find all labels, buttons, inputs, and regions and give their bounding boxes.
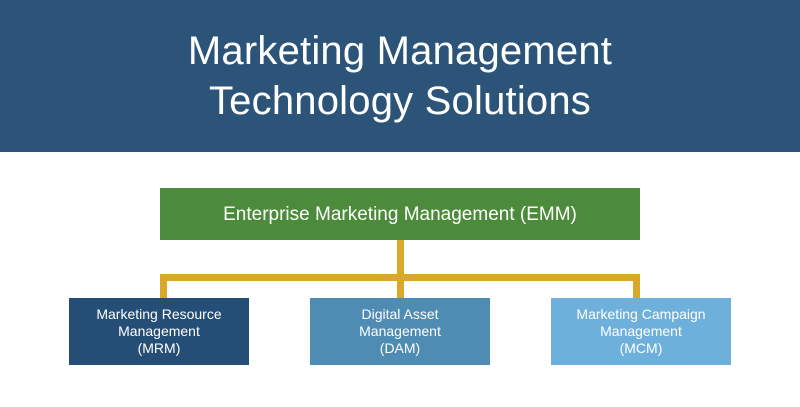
node-mcm: Marketing Campaign Management (MCM): [551, 298, 731, 365]
connector-drop-mcm: [633, 274, 640, 298]
node-mrm-label-line-3: (MRM): [138, 340, 181, 356]
node-mrm-label: Marketing Resource Management (MRM): [90, 306, 227, 357]
header-banner: Marketing Management Technology Solution…: [0, 0, 800, 152]
page-title-line-2: Technology Solutions: [209, 76, 591, 126]
node-mcm-label-line-1: Marketing Campaign: [576, 306, 705, 322]
node-dam: Digital Asset Management (DAM): [310, 298, 490, 365]
node-mcm-label-line-3: (MCM): [620, 340, 663, 356]
node-emm-root-label: Enterprise Marketing Management (EMM): [223, 203, 577, 226]
node-mrm-label-line-1: Marketing Resource: [96, 306, 221, 322]
connector-drop-mrm: [160, 274, 167, 298]
infographic-root: Marketing Management Technology Solution…: [0, 0, 800, 407]
hierarchy-diagram: Enterprise Marketing Management (EMM) Ma…: [0, 152, 800, 407]
page-title-line-1: Marketing Management: [188, 26, 612, 76]
connector-root-stem: [397, 240, 404, 277]
node-dam-label-line-2: Management: [359, 323, 441, 339]
node-mrm-label-line-2: Management: [118, 323, 200, 339]
node-mcm-label-line-2: Management: [600, 323, 682, 339]
node-dam-label-line-1: Digital Asset: [361, 306, 438, 322]
connector-drop-dam: [397, 274, 404, 298]
node-emm-root: Enterprise Marketing Management (EMM): [160, 188, 640, 240]
node-mcm-label: Marketing Campaign Management (MCM): [570, 306, 711, 357]
node-mrm: Marketing Resource Management (MRM): [69, 298, 249, 365]
node-dam-label: Digital Asset Management (DAM): [353, 306, 447, 357]
node-dam-label-line-3: (DAM): [380, 340, 420, 356]
